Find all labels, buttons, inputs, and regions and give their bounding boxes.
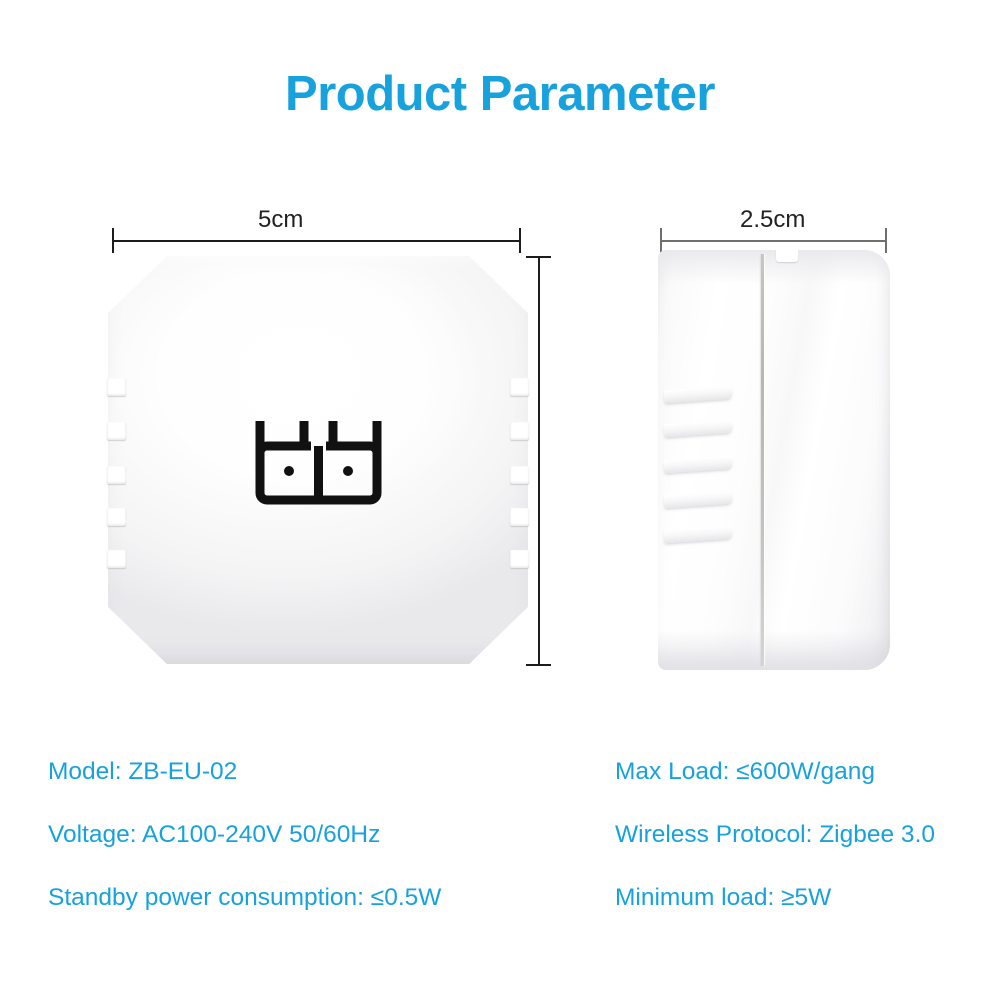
side-bottom-bevel — [658, 630, 890, 670]
terminal-screw-right — [343, 466, 353, 476]
spec-wireless-protocol: Wireless Protocol: Zigbee 3.0 — [615, 823, 935, 886]
dimension-line-front-height — [538, 256, 540, 666]
specifications-column-right: Max Load: ≤600W/gang Wireless Protocol: … — [615, 760, 935, 949]
specifications: Model: ZB-EU-02 Voltage: AC100-240V 50/6… — [0, 760, 1000, 960]
side-seam-line — [761, 254, 764, 666]
front-rib-right-2 — [510, 422, 529, 440]
front-rib-right-1 — [510, 378, 529, 396]
front-rib-right-3 — [510, 466, 529, 484]
spec-standby-power-consumption: Standby power consumption: ≤0.5W — [48, 886, 441, 949]
terminal-screw-left — [284, 466, 294, 476]
front-rib-left-3 — [107, 466, 126, 484]
front-rib-right-4 — [510, 508, 529, 526]
front-rib-left-1 — [107, 378, 126, 396]
side-top-notch — [776, 250, 798, 262]
page-title: Product Parameter — [0, 68, 1000, 122]
wiring-terminal-icon — [249, 415, 388, 513]
side-top-bevel — [658, 250, 890, 284]
front-rib-left-5 — [107, 550, 126, 568]
dimension-label-side-width: 2.5cm — [740, 206, 805, 234]
dimension-line-side-width — [660, 240, 887, 242]
specifications-column-left: Model: ZB-EU-02 Voltage: AC100-240V 50/6… — [48, 760, 441, 949]
spec-minimum-load: Minimum load: ≥5W — [615, 886, 935, 949]
dimension-label-front-width: 5cm — [258, 206, 303, 234]
front-rib-left-2 — [107, 422, 126, 440]
product-front-view — [108, 250, 528, 670]
dimension-line-front-width — [112, 240, 521, 242]
dimension-tick-front-height-bottom — [526, 664, 551, 666]
front-rib-right-5 — [510, 550, 529, 568]
spec-voltage: Voltage: AC100-240V 50/60Hz — [48, 823, 441, 886]
product-side-view — [658, 250, 890, 670]
front-rib-left-4 — [107, 508, 126, 526]
dimension-tick-front-height-top — [526, 256, 551, 258]
spec-max-load: Max Load: ≤600W/gang — [615, 760, 935, 823]
spec-model: Model: ZB-EU-02 — [48, 760, 441, 823]
